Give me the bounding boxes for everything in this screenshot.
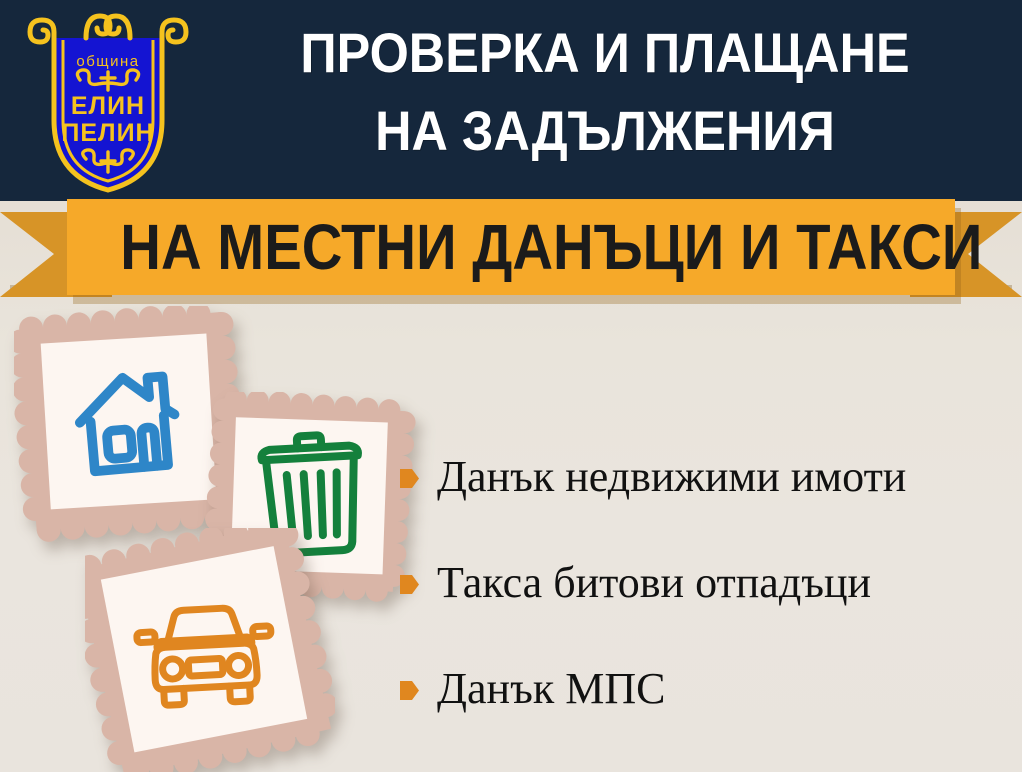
poster-canvas: община ЕЛИН ПЕЛИН [0,0,1022,772]
service-list: Данък недвижими имоти Такса битови отпад… [400,424,1012,742]
list-item[interactable]: Данък МПС [400,636,1012,742]
header-content: община ЕЛИН ПЕЛИН [0,0,1022,201]
coat-of-arms-icon: община ЕЛИН ПЕЛИН [24,8,192,194]
arrow-bullet-icon [400,573,419,596]
svg-text:община: община [76,53,139,70]
list-item[interactable]: Данък недвижими имоти [400,424,1012,530]
list-item-label: Такса битови отпадъци [437,560,871,606]
stamp-card-vehicle [85,528,335,772]
page-title: ПРОВЕРКА И ПЛАЩАНЕ НА ЗАДЪЛЖЕНИЯ [237,14,973,170]
list-item-label: Данък недвижими имоти [437,454,906,500]
subtitle-ribbon: НА МЕСТНИ ДАНЪЦИ И ТАКСИ [0,199,1022,307]
ribbon-label: НА МЕСТНИ ДАНЪЦИ И ТАКСИ [120,199,901,295]
svg-text:ПЕЛИН: ПЕЛИН [61,119,154,147]
list-item[interactable]: Такса битови отпадъци [400,530,1012,636]
svg-text:ЕЛИН: ЕЛИН [71,92,145,120]
ribbon-banner: НА МЕСТНИ ДАНЪЦИ И ТАКСИ [67,199,955,295]
arrow-bullet-icon [400,467,419,490]
arrow-bullet-icon [400,679,419,702]
header-bar: община ЕЛИН ПЕЛИН [0,0,1022,201]
list-item-label: Данък МПС [437,666,665,712]
